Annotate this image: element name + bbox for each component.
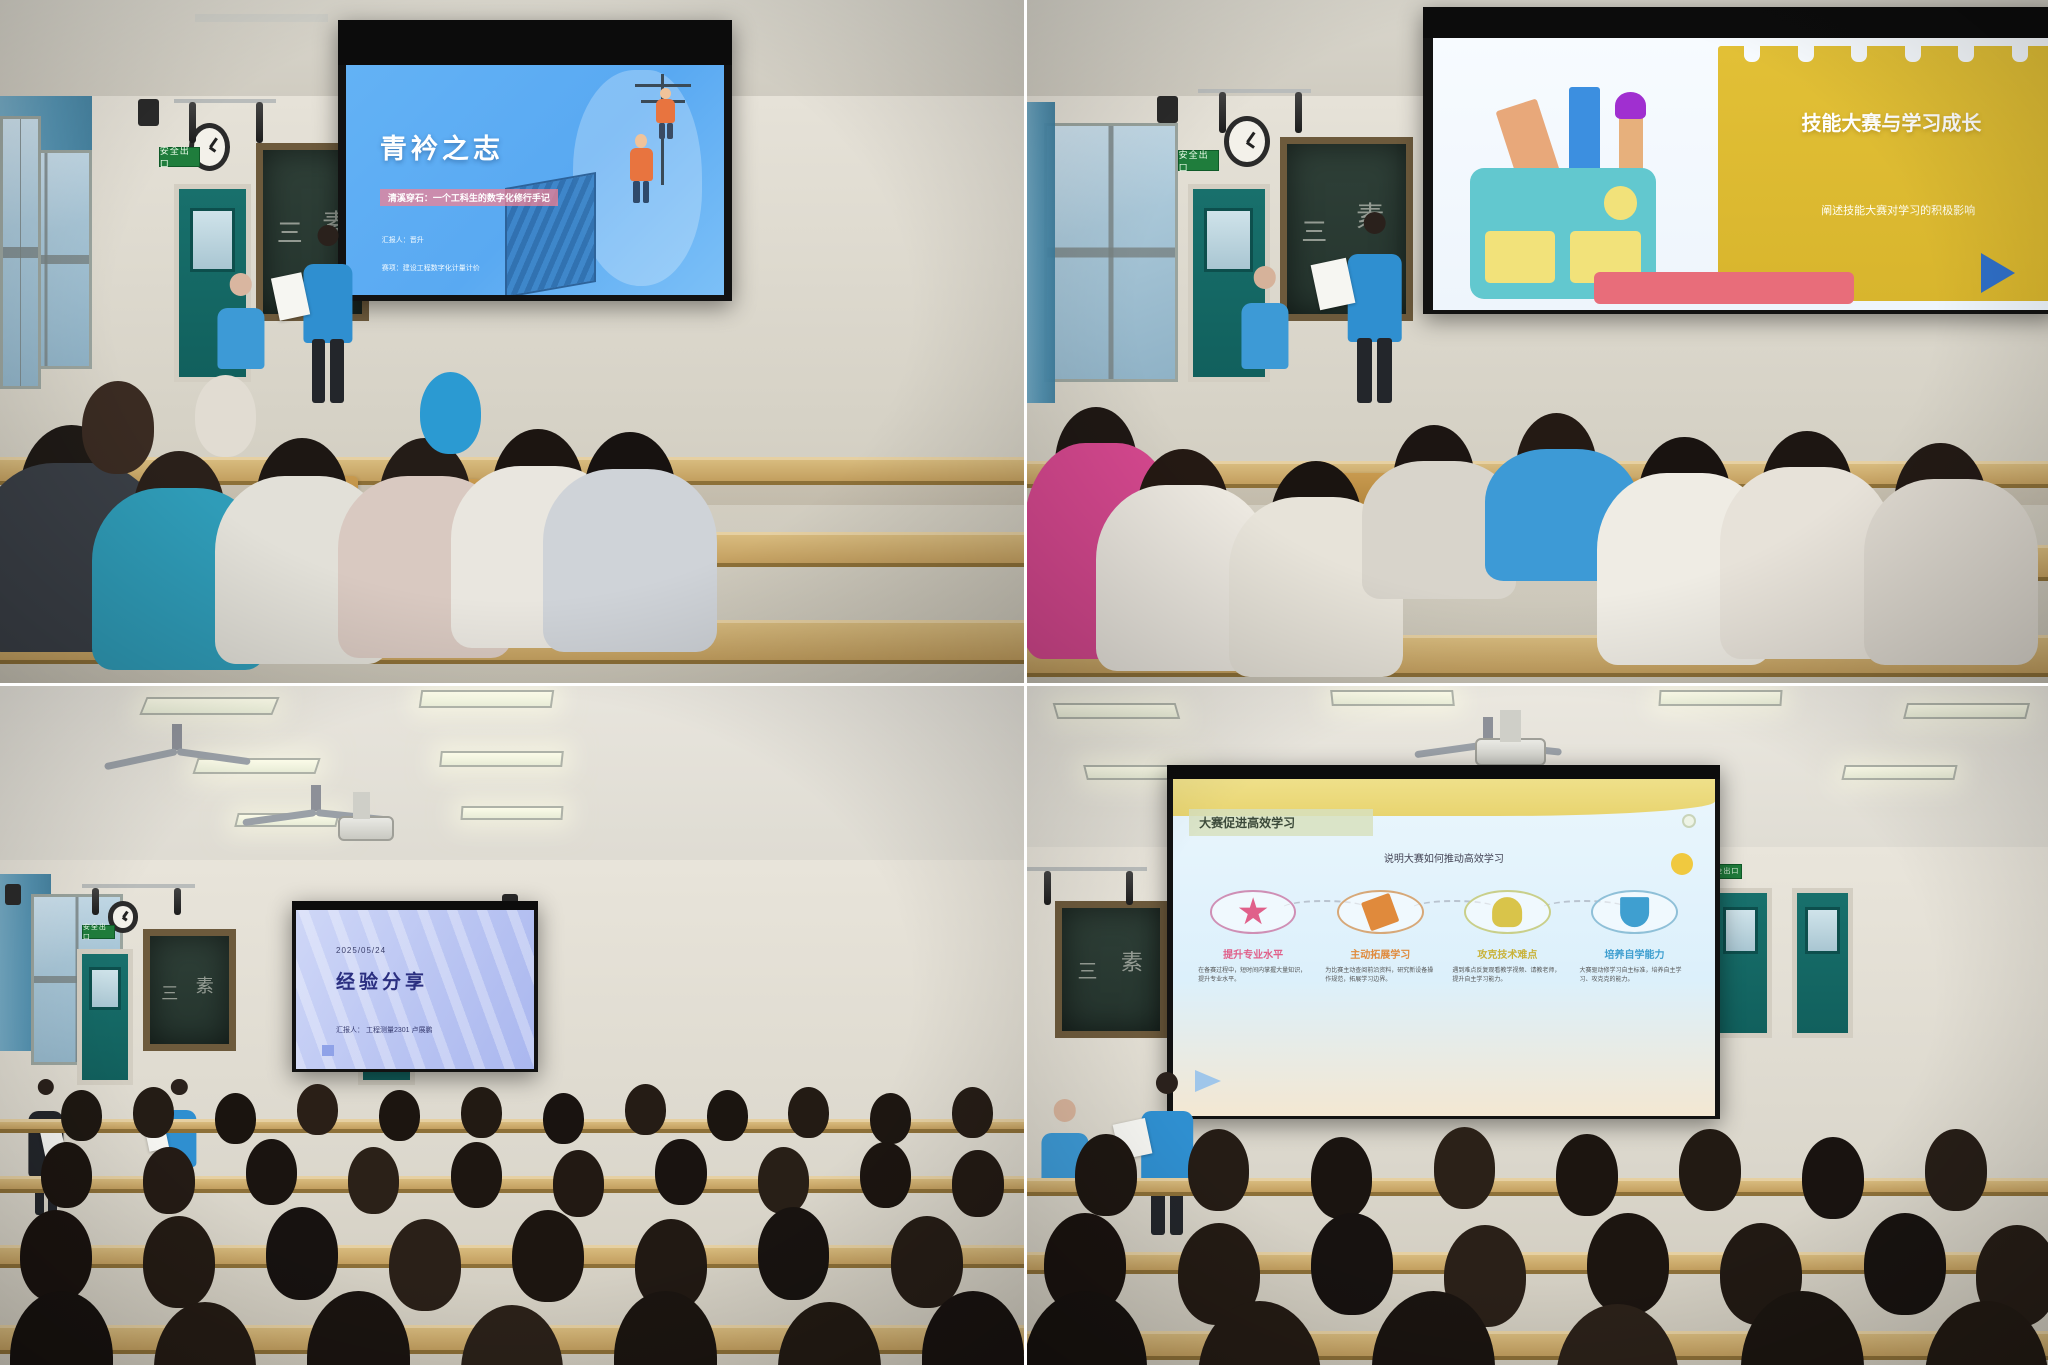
audience-head (1311, 1213, 1393, 1315)
panel-top-right: 安全出口 三 素 (1024, 0, 2048, 683)
audience-head (307, 1291, 409, 1365)
chalk-text: 三 (1301, 212, 1327, 249)
icon-oval (1337, 890, 1424, 934)
audience-head (215, 1093, 256, 1144)
projector-mount (353, 792, 369, 819)
slide-skills: 技能大赛与学习成长 阐述技能大赛对学习的积极影响 (1433, 38, 2048, 310)
slide-presenter-line: 汇报人：晋升 (382, 235, 424, 245)
ceiling-light (439, 751, 564, 767)
audience-head (195, 375, 256, 457)
audience-head (655, 1139, 706, 1206)
slide-experience-sharing: 2025/05/24 经验分享 汇报人： 工程测量2301 卢展鹏 (296, 910, 534, 1069)
speaker (138, 99, 158, 126)
slide-column: 培养自学能力 大赛驱动修学习自主标准，培养自主学习、攻克克的能力。 (1576, 890, 1693, 1089)
audience-head (143, 1147, 194, 1214)
audience-head (10, 1291, 112, 1365)
audience-head (420, 372, 481, 454)
audience-head (1188, 1129, 1249, 1211)
audience-head (143, 1216, 215, 1308)
audience-area (1024, 382, 2048, 683)
ceiling-light (140, 697, 280, 715)
door-window (1204, 208, 1253, 272)
audience-head (20, 1210, 92, 1302)
chalk-text: 素 (196, 972, 214, 998)
screen-casing (338, 20, 732, 65)
desk-row (1024, 1331, 2048, 1360)
slide-efficient-learning: 大赛促进高效学习 说明大赛如何推动高效学习 提升专业水平 (1173, 779, 1715, 1116)
audience-area (1024, 1119, 2048, 1365)
audience-head (1864, 1213, 1946, 1315)
slide-qingjin: 青衿之志 清溪穿石：一个工科生的数字化修行手记 汇报人：晋升 赛项：建设工程数字… (346, 65, 724, 295)
blackboard: 三 素 (143, 929, 235, 1052)
slide-title: 经验分享 (336, 967, 428, 994)
audience-head (778, 1302, 880, 1365)
slide-column: 主动拓展学习 为比赛主动查阅前沿资料，研究新设备操作规范，拓展学习边界。 (1322, 890, 1439, 1089)
audience-head (543, 1093, 584, 1144)
mic-rail (1198, 89, 1311, 93)
slide-date: 2025/05/24 (336, 946, 386, 955)
slide-title: 技能大赛与学习成长 (1744, 112, 2038, 137)
projection-screen-frame: 2025/05/24 经验分享 汇报人： 工程测量2301 卢展鹏 (292, 901, 538, 1072)
projection-screen: 2025/05/24 经验分享 汇报人： 工程测量2301 卢展鹏 (296, 910, 534, 1069)
slide-section-tag: 大赛促进高效学习 (1189, 809, 1373, 836)
microphone (1044, 871, 1051, 905)
column-body: 在备赛过程中，短时间内掌握大量知识，提升专业水平。 (1198, 967, 1308, 985)
audience-head (553, 1150, 604, 1217)
audience-head (297, 1084, 338, 1135)
projection-screen-frame: 大赛促进高效学习 说明大赛如何推动高效学习 提升专业水平 (1167, 765, 1720, 1120)
icon-oval (1591, 890, 1678, 934)
audience-head (891, 1216, 963, 1308)
slide-accent-chip (322, 1045, 334, 1056)
seated-assistant (215, 273, 266, 369)
audience-head (154, 1302, 256, 1365)
column-heading: 提升专业水平 (1223, 946, 1283, 961)
audience-head (461, 1087, 502, 1138)
audience-head (1311, 1137, 1372, 1219)
ceiling-projector (1475, 738, 1547, 767)
ceiling-light (460, 806, 563, 820)
slide-column: 提升专业水平 在备赛过程中，短时间内掌握大量知识，提升专业水平。 (1195, 890, 1312, 1089)
chalk-text: 素 (1121, 945, 1143, 977)
audience-head (266, 1207, 338, 1299)
audience-head (758, 1207, 830, 1299)
audience-head (952, 1150, 1003, 1217)
slide-presenter-line: 汇报人： 工程测量2301 卢展鹏 (336, 1025, 432, 1035)
audience-head (1679, 1129, 1740, 1211)
audience-body (1864, 479, 2038, 665)
panel-bottom-left: 安全出口 安全出口 三 素 2025/05/24 经验分享 (0, 683, 1024, 1365)
column-heading: 攻克技术难点 (1477, 946, 1537, 961)
ceiling-light (1658, 690, 1782, 706)
audience-area (0, 369, 1024, 683)
seated-assistant (1239, 266, 1290, 368)
projection-screen-frame: 技能大赛与学习成长 阐述技能大赛对学习的积极影响 (1423, 7, 2048, 314)
lightbulb-icon (1493, 897, 1523, 927)
worker-figure (652, 88, 678, 139)
speaker (5, 884, 21, 904)
microphone (1219, 92, 1226, 133)
projection-screen-frame: 青衿之志 清溪穿石：一个工科生的数字化修行手记 汇报人：晋升 赛项：建设工程数字… (338, 20, 732, 300)
audience-head (707, 1090, 748, 1141)
audience-head (625, 1084, 666, 1135)
audience-head (461, 1305, 563, 1365)
ceiling-light (1330, 690, 1455, 706)
ceiling-light (419, 690, 555, 708)
projection-screen: 大赛促进高效学习 说明大赛如何推动高效学习 提升专业水平 (1173, 779, 1715, 1116)
slide-title: 青衿之志 (380, 127, 504, 166)
microphone (1126, 871, 1133, 905)
ceiling-light (1052, 703, 1180, 719)
desk-row (1024, 1178, 2048, 1195)
projector-mount (1500, 710, 1520, 741)
audience-head (870, 1093, 911, 1144)
microphone (189, 102, 196, 143)
audience-head (758, 1147, 809, 1214)
door-window (89, 967, 121, 1010)
blackboard: 三 素 (1055, 901, 1168, 1037)
column-heading: 主动拓展学习 (1350, 946, 1410, 961)
ribbon-illustration (1594, 272, 1854, 305)
audience-head (614, 1291, 716, 1365)
window (0, 116, 41, 389)
star-icon (1238, 897, 1268, 927)
wall-clock (1224, 116, 1270, 167)
audience-area (0, 1079, 1024, 1365)
audience-head (246, 1139, 297, 1206)
slide-column: 攻克技术难点 遇到难点反复观看教学视频、请教老师，提升自主学习能力。 (1449, 890, 1566, 1089)
icon-oval (1464, 890, 1551, 934)
audience-head (788, 1087, 829, 1138)
paper-plane-icon (1195, 1070, 1221, 1092)
column-heading: 培养自学能力 (1605, 946, 1665, 961)
microphone (256, 102, 263, 143)
slide-subtitle: 说明大赛如何推动高效学习 (1173, 850, 1715, 865)
audience-head (860, 1142, 911, 1209)
ceiling-fan (102, 724, 252, 764)
collage-divider-horizontal (0, 683, 2048, 686)
presenter-standing (1341, 212, 1408, 403)
screen-casing (1423, 7, 2048, 38)
photo-collage: 安全出口 三 素 (0, 0, 2048, 1365)
audience-head (1925, 1129, 1986, 1211)
column-body: 为比赛主动查阅前沿资料，研究新设备操作规范，拓展学习边界。 (1325, 967, 1435, 985)
microphone (1295, 92, 1302, 133)
ceiling-projector (338, 816, 394, 841)
column-body: 大赛驱动修学习自主标准，培养自主学习、攻克克的能力。 (1579, 967, 1689, 985)
door-window (1805, 907, 1840, 955)
chalk-text: 三 (161, 979, 178, 1004)
audience-head (1587, 1213, 1669, 1315)
audience-head (1802, 1137, 1863, 1219)
door (1792, 888, 1853, 1038)
book-icon (1361, 893, 1399, 931)
audience-head (512, 1210, 584, 1302)
panel-top-left: 安全出口 三 素 (0, 0, 1024, 683)
icon-oval (1210, 890, 1297, 934)
column-body: 遇到难点反复观看教学视频、请教老师，提升自主学习能力。 (1452, 967, 1562, 985)
audience-head (379, 1090, 420, 1141)
pen-icon (1620, 897, 1650, 927)
audience-body (543, 469, 717, 651)
exit-sign: 安全出口 (82, 925, 115, 939)
slide-subtitle: 阐述技能大赛对学习的积极影响 (1758, 204, 2039, 219)
audience-head (952, 1087, 993, 1138)
slide-subtitle: 清溪穿石：一个工科生的数字化修行手记 (380, 189, 558, 206)
exit-sign: 安全出口 (159, 147, 200, 167)
audience-head (1556, 1134, 1617, 1216)
door-window (1723, 907, 1758, 955)
audience-head (41, 1142, 92, 1209)
door (77, 949, 133, 1085)
slide-corner-dot (1682, 814, 1696, 828)
audience-head (1556, 1304, 1679, 1365)
audience-head (82, 381, 154, 473)
audience-head (451, 1142, 502, 1209)
ceiling-light (1903, 703, 2030, 719)
slide-columns: 提升专业水平 在备赛过程中，短时间内掌握大量知识，提升专业水平。 主动拓展学习 … (1195, 890, 1694, 1089)
ceiling-light (1842, 765, 1958, 780)
audience-head (389, 1219, 461, 1311)
audience-head (61, 1090, 102, 1141)
slide-section-tag-label: 大赛促进高效学习 (1199, 814, 1295, 831)
audience-head (348, 1147, 399, 1214)
projector-mount (195, 14, 328, 22)
audience-head (133, 1087, 174, 1138)
microphone (174, 888, 181, 915)
microphone (92, 888, 99, 915)
curtain (1024, 102, 1055, 403)
slide-event-line: 赛项：建设工程数字化计量计价 (382, 263, 480, 273)
audience-head (1434, 1127, 1495, 1209)
projection-screen: 青衿之志 清溪穿石：一个工科生的数字化修行手记 汇报人：晋升 赛项：建设工程数字… (346, 65, 724, 295)
chalk-text: 三 (1077, 955, 1097, 984)
audience-head (1024, 1291, 1147, 1365)
screen-casing (292, 901, 538, 910)
window (1044, 123, 1177, 383)
door-window (190, 208, 235, 272)
arrow-illustration (1981, 253, 2015, 293)
audience-head (1075, 1134, 1136, 1216)
screen-casing (1167, 765, 1720, 779)
speaker (1157, 96, 1177, 123)
worker-figure (626, 134, 656, 203)
projection-screen: 技能大赛与学习成长 阐述技能大赛对学习的积极影响 (1433, 38, 2048, 310)
exit-sign: 安全出口 (1178, 150, 1219, 170)
panel-bottom-right: 安全出口 三 素 大赛促进高效学习 (1024, 683, 2048, 1365)
